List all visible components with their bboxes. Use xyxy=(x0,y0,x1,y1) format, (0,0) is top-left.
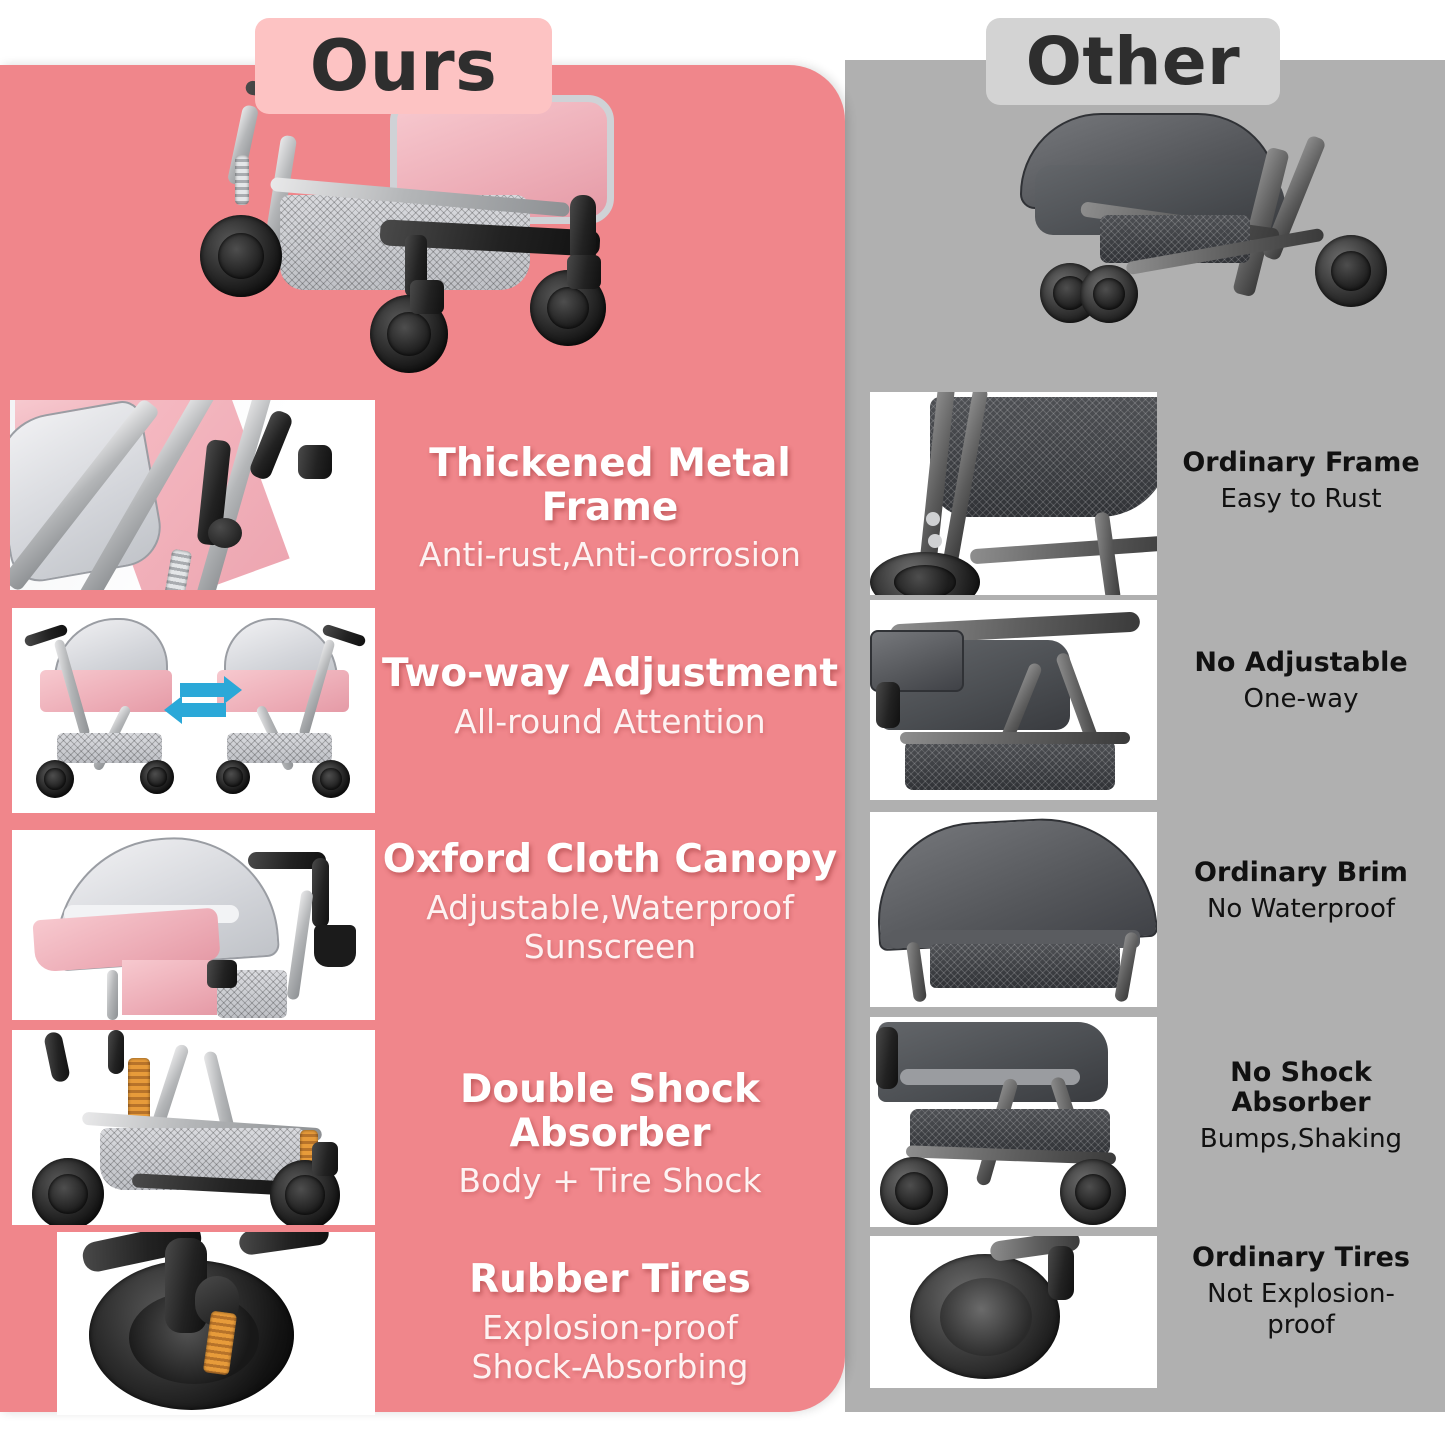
header-label-ours: Ours xyxy=(310,25,498,107)
photo-card-other-seat xyxy=(870,600,1157,800)
feature-text-ours-3: Oxford Cloth Canopy Adjustable,Waterproo… xyxy=(375,838,845,967)
feature-text-ours-5: Rubber Tires Explosion-proofShock-Absorb… xyxy=(375,1258,845,1387)
feature-title: Double Shock Absorber xyxy=(375,1068,845,1155)
feature-text-ours-4: Double Shock Absorber Body + Tire Shock xyxy=(375,1068,845,1201)
feature-title: Rubber Tires xyxy=(375,1258,845,1302)
ours-stroller-hero-photo xyxy=(175,95,645,420)
photo-card-ours-frame xyxy=(10,400,375,590)
photo-card-ours-shock xyxy=(12,1030,375,1225)
photo-card-other-wheel-frame xyxy=(870,1017,1157,1227)
feature-subtitle: Easy to Rust xyxy=(1157,484,1445,515)
feature-text-ours-2: Two-way Adjustment All-round Attention xyxy=(375,652,845,741)
photo-card-other-frame xyxy=(870,392,1157,595)
feature-title: Ordinary Frame xyxy=(1157,448,1445,478)
arrow-right-icon xyxy=(180,683,226,697)
header-chip-other: Other xyxy=(986,18,1280,105)
feature-title: No Adjustable xyxy=(1157,648,1445,678)
feature-subtitle: No Waterproof xyxy=(1157,894,1445,925)
other-stroller-hero-photo xyxy=(985,95,1405,350)
feature-title: Ordinary Brim xyxy=(1157,858,1445,888)
arrow-left-icon xyxy=(180,703,226,717)
header-chip-ours: Ours xyxy=(255,18,552,114)
feature-title: Two-way Adjustment xyxy=(375,652,845,696)
photo-card-other-tire xyxy=(870,1236,1157,1388)
two-way-arrows xyxy=(180,683,226,717)
comparison-infographic: Ours Other xyxy=(0,0,1445,1445)
feature-subtitle: Explosion-proofShock-Absorbing xyxy=(375,1308,845,1387)
feature-subtitle: Not Explosion-proof xyxy=(1157,1279,1445,1341)
photo-card-other-canopy xyxy=(870,812,1157,1007)
feature-text-other-2: No Adjustable One-way xyxy=(1157,648,1445,715)
feature-subtitle: All-round Attention xyxy=(375,702,845,742)
feature-subtitle: Anti-rust,Anti-corrosion xyxy=(375,535,845,575)
feature-text-other-3: Ordinary Brim No Waterproof xyxy=(1157,858,1445,925)
feature-subtitle: Bumps,Shaking xyxy=(1157,1124,1445,1155)
feature-subtitle: Adjustable,WaterproofSunscreen xyxy=(375,888,845,967)
feature-text-ours-1: Thickened Metal Frame Anti-rust,Anti-cor… xyxy=(375,442,845,575)
feature-title: Thickened Metal Frame xyxy=(375,442,845,529)
feature-text-other-5: Ordinary Tires Not Explosion-proof xyxy=(1157,1243,1445,1342)
photo-card-ours-tire xyxy=(57,1232,375,1415)
feature-title: No Shock Absorber xyxy=(1157,1058,1445,1118)
header-label-other: Other xyxy=(1026,23,1240,100)
feature-subtitle: One-way xyxy=(1157,684,1445,715)
feature-subtitle: Body + Tire Shock xyxy=(375,1161,845,1201)
photo-card-ours-canopy xyxy=(12,830,375,1020)
feature-text-other-4: No Shock Absorber Bumps,Shaking xyxy=(1157,1058,1445,1156)
photo-card-ours-two-way xyxy=(12,608,375,813)
feature-title: Ordinary Tires xyxy=(1157,1243,1445,1273)
feature-text-other-1: Ordinary Frame Easy to Rust xyxy=(1157,448,1445,515)
feature-title: Oxford Cloth Canopy xyxy=(375,838,845,882)
